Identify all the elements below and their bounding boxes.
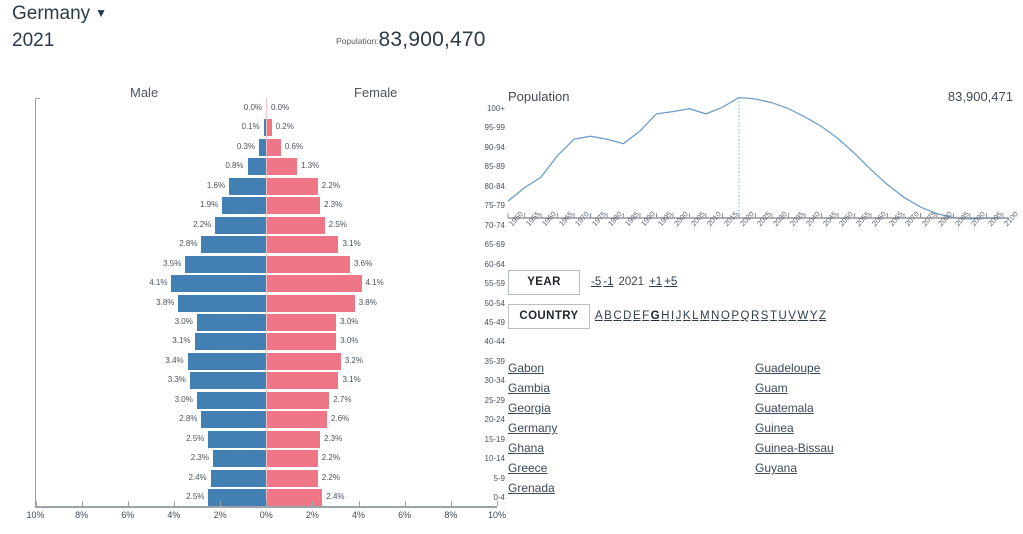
x-axis-tick <box>128 501 129 506</box>
country-link[interactable]: Guadeloupe <box>755 358 834 378</box>
female-value-label: 2.2% <box>322 453 340 462</box>
female-bar[interactable] <box>267 236 338 253</box>
female-value-label: 2.2% <box>322 181 340 190</box>
female-value-label: 2.7% <box>333 395 351 404</box>
female-bar[interactable] <box>267 489 322 506</box>
female-bar[interactable] <box>267 353 341 370</box>
male-value-label: 2.5% <box>164 492 204 501</box>
country-link[interactable]: Guatemala <box>755 398 834 418</box>
pyramid-row: 2.5%2.4% <box>0 489 505 506</box>
alphabet-link-o[interactable]: O <box>721 310 730 322</box>
pyramid-row: 0.0%0.0% <box>0 100 505 117</box>
female-bar[interactable] <box>267 333 336 350</box>
male-bar[interactable] <box>222 197 266 214</box>
x-axis-line <box>35 506 497 508</box>
male-value-label: 0.8% <box>204 161 244 170</box>
male-bar[interactable] <box>208 489 266 506</box>
year-step-plus1-link[interactable]: +1 <box>649 276 662 288</box>
x-axis-tick <box>359 501 360 506</box>
female-bar[interactable] <box>267 431 320 448</box>
alphabet-link-m[interactable]: M <box>700 310 710 322</box>
male-bar[interactable] <box>190 372 266 389</box>
pyramid-row: 3.0%3.0% <box>0 314 505 331</box>
female-value-label: 3.6% <box>354 259 372 268</box>
male-value-label: 2.3% <box>169 453 209 462</box>
x-axis-tick <box>174 501 175 506</box>
male-value-label: 3.8% <box>134 298 174 307</box>
alphabet-link-f[interactable]: F <box>642 310 649 322</box>
alphabet-link-y[interactable]: Y <box>810 310 818 322</box>
x-axis-tick <box>266 501 267 506</box>
female-bar[interactable] <box>267 139 281 156</box>
male-bar[interactable] <box>197 314 266 331</box>
year-stepper-links: -5-12021+1+5 <box>590 276 678 288</box>
pyramid-row: 0.1%0.2% <box>0 119 505 136</box>
pyramid-row: 4.1%4.1% <box>0 275 505 292</box>
male-value-label: 2.8% <box>157 239 197 248</box>
male-value-label: 3.3% <box>146 375 186 384</box>
female-value-label: 2.3% <box>324 434 342 443</box>
male-bar[interactable] <box>229 178 266 195</box>
male-value-label: 1.9% <box>178 200 218 209</box>
male-bar[interactable] <box>188 353 266 370</box>
male-bar[interactable] <box>264 119 266 136</box>
female-value-label: 2.6% <box>331 414 349 423</box>
x-axis-tick <box>497 501 498 506</box>
alphabet-link-h[interactable]: H <box>661 310 669 322</box>
alphabet-link-l[interactable]: L <box>692 310 698 322</box>
country-list-column-2: GuadeloupeGuamGuatemalaGuineaGuinea-Biss… <box>755 358 834 478</box>
alphabet-link-j[interactable]: J <box>676 310 682 322</box>
country-link[interactable]: Germany <box>508 418 557 438</box>
country-name: Germany <box>12 3 90 24</box>
female-bar[interactable] <box>267 217 325 234</box>
male-value-label: 3.0% <box>153 395 193 404</box>
pyramid-plot-area: 100+0.0%0.0%95-990.1%0.2%90-940.3%0.6%85… <box>0 84 505 534</box>
country-link[interactable]: Guinea <box>755 418 834 438</box>
female-value-label: 3.2% <box>345 356 363 365</box>
alphabet-link-v[interactable]: V <box>788 310 796 322</box>
female-bar[interactable] <box>267 158 297 175</box>
male-bar[interactable] <box>201 411 266 428</box>
female-value-label: 1.3% <box>301 161 319 170</box>
year-step-minus1-link[interactable]: -1 <box>603 276 613 288</box>
male-value-label: 0.0% <box>222 103 262 112</box>
pyramid-row: 2.8%3.1% <box>0 236 505 253</box>
page-title: 2021 <box>12 30 54 52</box>
x-axis-tick-label: 2% <box>200 510 240 520</box>
alphabet-link-g[interactable]: G <box>651 310 660 322</box>
page-header: Germany▼ 2021 Population:83,900,470 <box>0 0 1023 72</box>
male-bar[interactable] <box>171 275 266 292</box>
x-axis-tick-label: 6% <box>385 510 425 520</box>
alphabet-link-r[interactable]: R <box>751 310 759 322</box>
alphabet-link-p[interactable]: P <box>731 310 739 322</box>
male-value-label: 3.5% <box>141 259 181 268</box>
x-axis-tick <box>36 501 37 506</box>
pyramid-row: 1.9%2.3% <box>0 197 505 214</box>
population-value: 83,900,470 <box>379 28 486 51</box>
male-bar[interactable] <box>211 470 266 487</box>
x-axis-tick-label: 10% <box>477 510 517 520</box>
female-value-label: 3.8% <box>359 298 377 307</box>
pyramid-row: 2.8%2.6% <box>0 411 505 428</box>
country-list-column-1: GabonGambiaGeorgiaGermanyGhanaGreeceGren… <box>508 358 557 498</box>
pyramid-row: 2.4%2.2% <box>0 470 505 487</box>
female-value-label: 0.2% <box>276 122 294 131</box>
pyramid-row: 2.5%2.3% <box>0 431 505 448</box>
pyramid-row: 0.3%0.6% <box>0 139 505 156</box>
x-axis-tick-label: 8% <box>431 510 471 520</box>
female-bar[interactable] <box>267 256 350 273</box>
male-value-label: 2.8% <box>157 414 197 423</box>
x-axis-tick-label: 6% <box>108 510 148 520</box>
male-bar[interactable] <box>259 139 266 156</box>
pyramid-row: 2.3%2.2% <box>0 450 505 467</box>
female-value-label: 3.1% <box>342 239 360 248</box>
female-value-label: 2.4% <box>326 492 344 501</box>
male-value-label: 3.4% <box>144 356 184 365</box>
year-step-plus5-link[interactable]: +5 <box>664 276 677 288</box>
male-bar[interactable] <box>215 217 266 234</box>
x-axis-tick-label: 2% <box>292 510 332 520</box>
x-axis-tick <box>220 501 221 506</box>
population-pyramid-chart: Male Female 100+0.0%0.0%95-990.1%0.2%90-… <box>0 84 505 534</box>
alphabet-link-w[interactable]: W <box>797 310 808 322</box>
trend-chart-svg <box>497 84 1023 259</box>
female-bar[interactable] <box>267 470 318 487</box>
country-link[interactable]: Guam <box>755 378 834 398</box>
male-bar[interactable] <box>195 333 266 350</box>
male-value-label: 0.1% <box>220 122 260 131</box>
x-axis-tick-label: 4% <box>339 510 379 520</box>
pyramid-row: 3.0%2.7% <box>0 392 505 409</box>
x-axis-tick-label: 8% <box>62 510 102 520</box>
pyramid-row: 0.8%1.3% <box>0 158 505 175</box>
female-value-label: 3.1% <box>342 375 360 384</box>
male-value-label: 0.3% <box>215 142 255 151</box>
country-link[interactable]: Gambia <box>508 378 557 398</box>
female-bar[interactable] <box>267 392 329 409</box>
country-link[interactable]: Greece <box>508 458 557 478</box>
x-axis-tick-label: 10% <box>16 510 56 520</box>
country-link[interactable]: Guyana <box>755 458 834 478</box>
male-bar[interactable] <box>185 256 266 273</box>
female-value-label: 2.3% <box>324 200 342 209</box>
alphabet-link-n[interactable]: N <box>711 310 719 322</box>
female-value-label: 3.0% <box>340 336 358 345</box>
alphabet-link-s[interactable]: S <box>761 310 769 322</box>
male-bar[interactable] <box>197 392 266 409</box>
female-bar[interactable] <box>267 197 320 214</box>
country-link[interactable]: Grenada <box>508 478 557 498</box>
pyramid-row: 3.5%3.6% <box>0 256 505 273</box>
year-step-minus5-link[interactable]: -5 <box>591 276 601 288</box>
alphabet-link-e[interactable]: E <box>633 310 641 322</box>
female-value-label: 2.5% <box>329 220 347 229</box>
country-control-row: COUNTRY ABCDEFGHIJKLMNOPQRSTUVWYZ <box>497 304 1023 338</box>
pyramid-row: 3.8%3.8% <box>0 295 505 312</box>
pyramid-row: 3.3%3.1% <box>0 372 505 389</box>
year-control-row: YEAR -5-12021+1+5 <box>497 270 1023 304</box>
pyramid-row: 3.1%3.0% <box>0 333 505 350</box>
female-bar[interactable] <box>267 295 355 312</box>
male-bar[interactable] <box>208 431 266 448</box>
alphabet-link-z[interactable]: Z <box>819 310 826 322</box>
male-value-label: 2.5% <box>164 434 204 443</box>
pyramid-row: 2.2%2.5% <box>0 217 505 234</box>
male-value-label: 2.4% <box>167 473 207 482</box>
female-bar[interactable] <box>267 275 362 292</box>
female-bar[interactable] <box>267 119 272 136</box>
alphabet-link-i[interactable]: I <box>671 310 674 322</box>
male-value-label: 1.6% <box>185 181 225 190</box>
year-current-value: 2021 <box>618 276 644 288</box>
male-bar[interactable] <box>178 295 266 312</box>
alphabet-link-b[interactable]: B <box>604 310 612 322</box>
population-trend-line <box>508 98 1003 220</box>
country-button[interactable]: COUNTRY <box>508 304 590 329</box>
female-bar[interactable] <box>267 450 318 467</box>
chevron-down-icon[interactable]: ▼ <box>95 6 107 20</box>
female-bar[interactable] <box>267 314 336 331</box>
year-button[interactable]: YEAR <box>508 270 580 295</box>
alphabet-index: ABCDEFGHIJKLMNOPQRSTUVWYZ <box>595 310 828 322</box>
country-link[interactable]: Georgia <box>508 398 557 418</box>
alphabet-link-k[interactable]: K <box>683 310 691 322</box>
female-bar[interactable] <box>267 411 327 428</box>
country-selector[interactable]: Germany▼ <box>12 3 107 25</box>
female-bar[interactable] <box>267 178 318 195</box>
female-value-label: 2.2% <box>322 473 340 482</box>
male-bar[interactable] <box>201 236 266 253</box>
male-value-label: 2.2% <box>171 220 211 229</box>
x-axis-tick-label: 0% <box>246 510 286 520</box>
country-link[interactable]: Guinea-Bissau <box>755 438 834 458</box>
pyramid-row: 1.6%2.2% <box>0 178 505 195</box>
alphabet-link-u[interactable]: U <box>778 310 786 322</box>
pyramid-row: 3.4%3.2% <box>0 353 505 370</box>
controls-panel: YEAR -5-12021+1+5 COUNTRY ABCDEFGHIJKLMN… <box>497 270 1023 338</box>
female-value-label: 0.6% <box>285 142 303 151</box>
x-axis-tick-label: 4% <box>154 510 194 520</box>
male-value-label: 3.1% <box>151 336 191 345</box>
female-value-label: 0.0% <box>271 103 289 112</box>
country-link[interactable]: Ghana <box>508 438 557 458</box>
x-axis-tick <box>82 501 83 506</box>
x-axis-tick <box>405 501 406 506</box>
alphabet-link-c[interactable]: C <box>613 310 621 322</box>
alphabet-link-a[interactable]: A <box>595 310 603 322</box>
country-link[interactable]: Gabon <box>508 358 557 378</box>
male-value-label: 4.1% <box>127 278 167 287</box>
x-axis-tick <box>312 501 313 506</box>
female-value-label: 4.1% <box>366 278 384 287</box>
population-total: Population:83,900,470 <box>336 28 486 52</box>
population-trend-chart: Population 83,900,471 195019551960196519… <box>497 84 1023 259</box>
population-label: Population: <box>336 36 379 46</box>
alphabet-link-q[interactable]: Q <box>741 310 750 322</box>
male-value-label: 3.0% <box>153 317 193 326</box>
alphabet-link-d[interactable]: D <box>623 310 631 322</box>
alphabet-link-t[interactable]: T <box>770 310 777 322</box>
male-bar[interactable] <box>248 158 266 175</box>
x-axis-tick <box>451 501 452 506</box>
female-bar[interactable] <box>267 372 338 389</box>
male-bar[interactable] <box>213 450 266 467</box>
female-value-label: 3.0% <box>340 317 358 326</box>
